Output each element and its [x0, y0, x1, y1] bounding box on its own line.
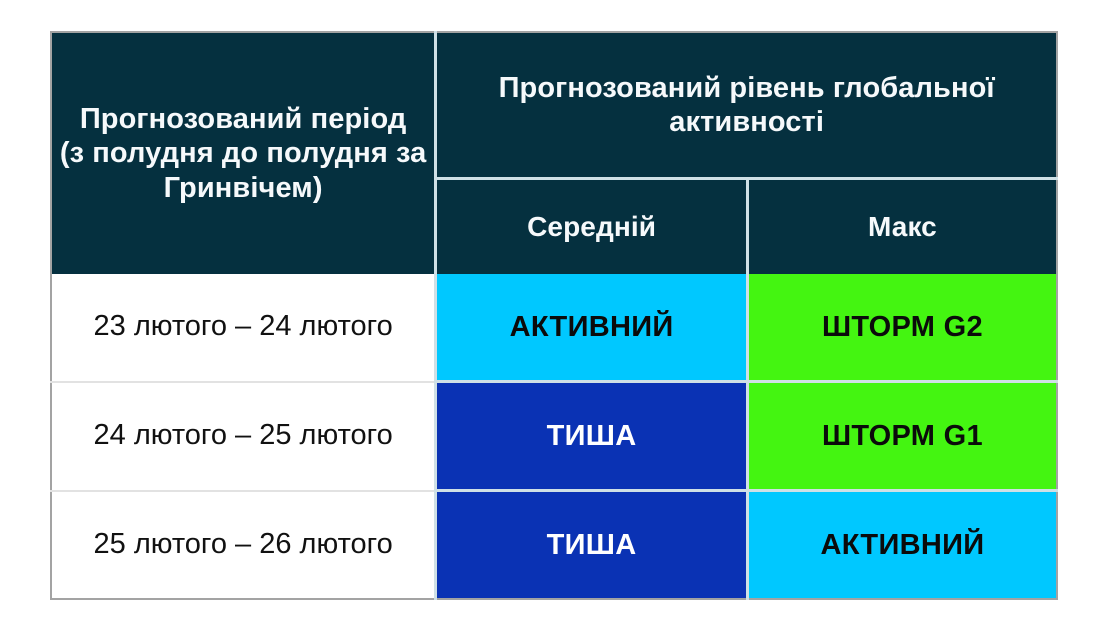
table-row: 25 лютого – 26 лютого ТИША АКТИВНИЙ [51, 491, 1057, 600]
cell-max-level: ШТОРМ G1 [747, 382, 1057, 491]
geomagnetic-forecast-table: Прогнозований період (з полудня до полуд… [50, 31, 1058, 600]
cell-max-level: АКТИВНИЙ [747, 491, 1057, 600]
header-period-line-1: Прогнозований період [80, 103, 407, 135]
cell-period: 24 лютого – 25 лютого [51, 382, 436, 491]
table-header-row-group: Прогнозований період (з полудня до полуд… [51, 32, 1057, 179]
cell-period: 25 лютого – 26 лютого [51, 491, 436, 600]
cell-mean-level: АКТИВНИЙ [436, 274, 748, 382]
table-row: 24 лютого – 25 лютого ТИША ШТОРМ G1 [51, 382, 1057, 491]
cell-mean-level: ТИША [436, 491, 748, 600]
header-global-activity-level: Прогнозований рівень глобальної активнос… [436, 32, 1057, 179]
cell-mean-level: ТИША [436, 382, 748, 491]
header-mean: Середній [436, 179, 748, 275]
header-max: Макс [747, 179, 1057, 275]
cell-max-level: ШТОРМ G2 [747, 274, 1057, 382]
cell-period: 23 лютого – 24 лютого [51, 274, 436, 382]
header-period-line-2: (з полудня до полудня за Гринвічем) [60, 137, 427, 203]
header-forecast-period: Прогнозований період (з полудня до полуд… [51, 32, 436, 274]
page-root: Прогнозований період (з полудня до полуд… [0, 0, 1107, 643]
table-row: 23 лютого – 24 лютого АКТИВНИЙ ШТОРМ G2 [51, 274, 1057, 382]
